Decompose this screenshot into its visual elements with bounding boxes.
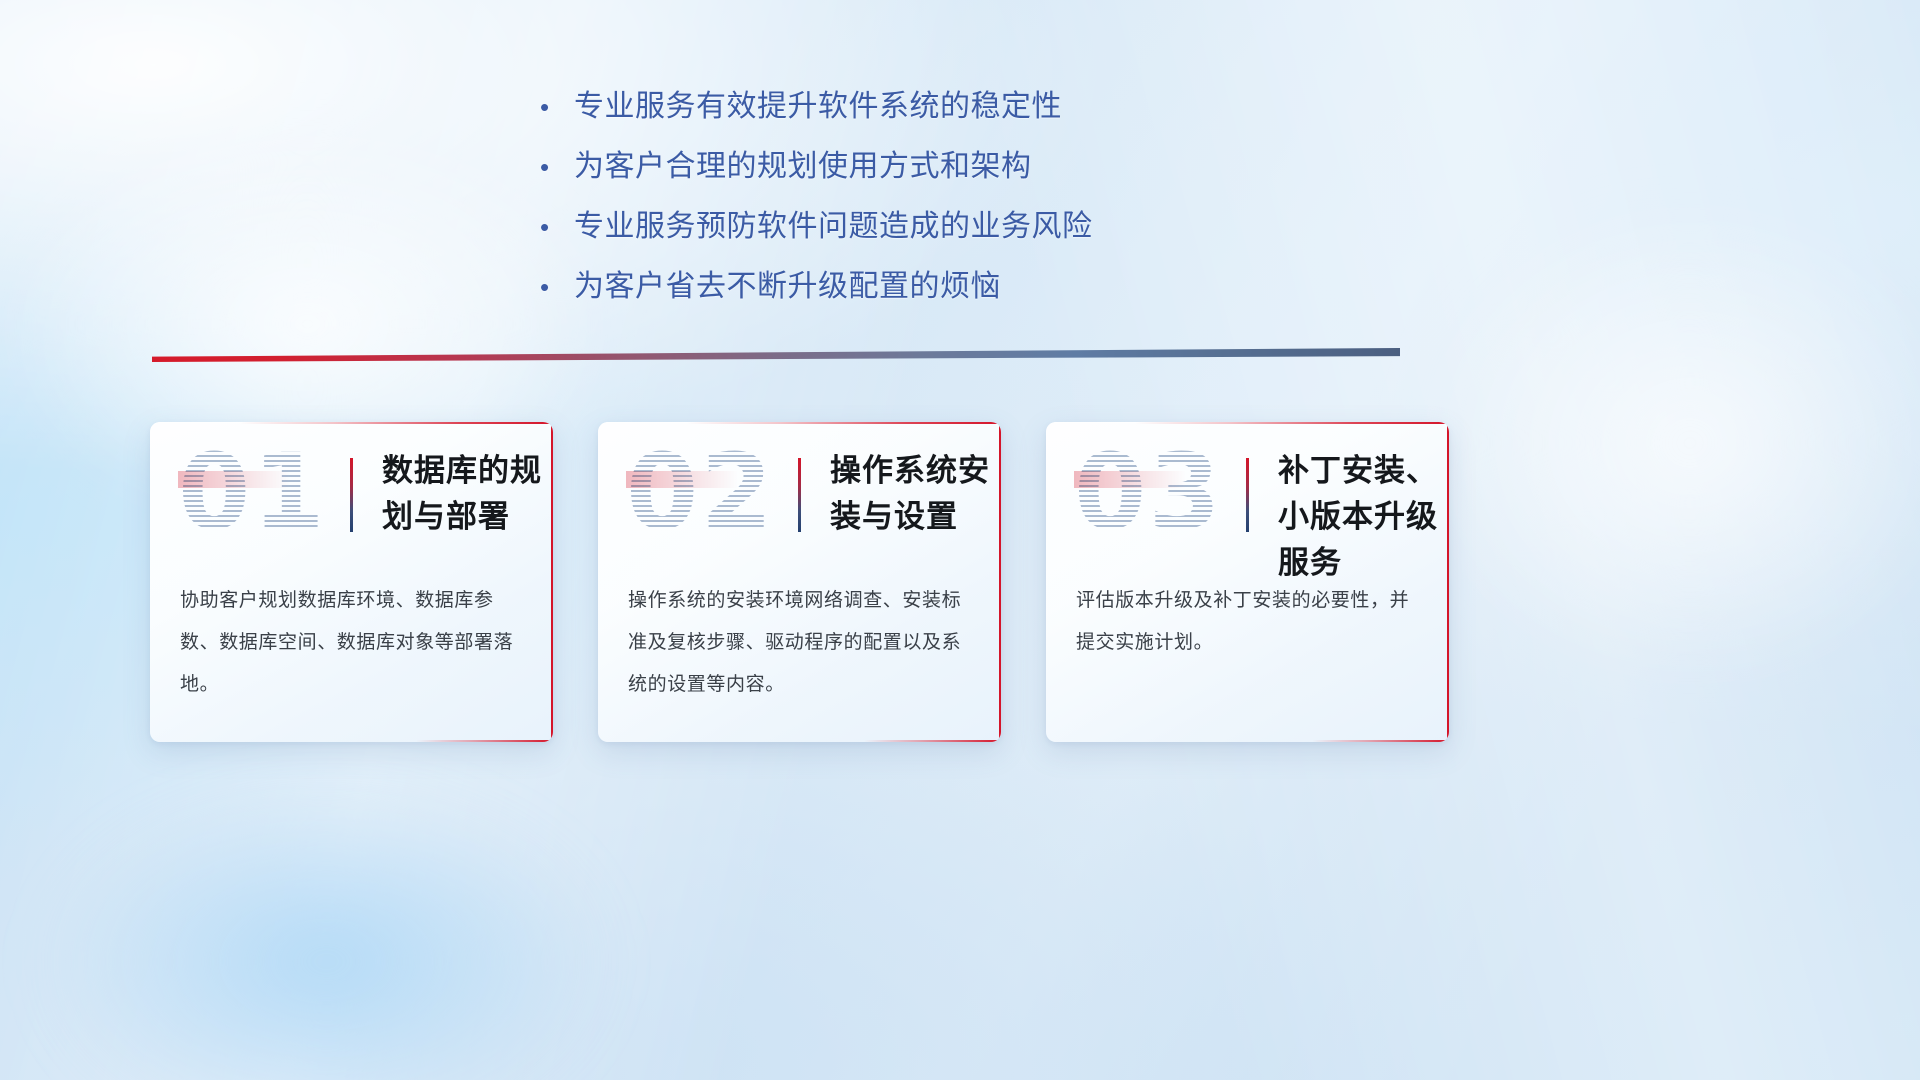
background-glow-bottom-left: [0, 713, 730, 1080]
card-header: 01 数据库的规划与部署: [150, 422, 553, 572]
bullet-text: 为客户合理的规划使用方式和架构: [574, 148, 1032, 186]
service-card-01[interactable]: 01 数据库的规划与部署 协助客户规划数据库环境、数据库参数、数据库空间、数据库…: [150, 422, 553, 742]
divider-blade: [152, 348, 1400, 362]
benefits-bullet-list: • 专业服务有效提升软件系统的稳定性 • 为客户合理的规划使用方式和架构 • 专…: [540, 88, 1240, 328]
card-number-watermark: 01: [178, 440, 327, 544]
card-accent-bottom: [416, 740, 553, 742]
card-accent-bottom: [1312, 740, 1449, 742]
bullet-dot-icon: •: [540, 208, 574, 246]
bullet-text: 专业服务预防软件问题造成的业务风险: [574, 208, 1093, 246]
card-header: 02 操作系统安装与设置: [598, 422, 1001, 572]
list-item: • 为客户合理的规划使用方式和架构: [540, 148, 1240, 186]
list-item: • 专业服务预防软件问题造成的业务风险: [540, 208, 1240, 246]
card-number-watermark: 02: [626, 440, 775, 544]
service-cards-row: 01 数据库的规划与部署 协助客户规划数据库环境、数据库参数、数据库空间、数据库…: [150, 422, 1450, 742]
card-title: 数据库的规划与部署: [382, 448, 542, 540]
section-divider: [152, 348, 1400, 362]
card-title-rule: [350, 458, 353, 532]
bullet-text: 为客户省去不断升级配置的烦恼: [574, 268, 1001, 306]
card-description: 评估版本升级及补丁安装的必要性，并提交实施计划。: [1076, 580, 1423, 664]
bullet-dot-icon: •: [540, 148, 574, 186]
list-item: • 为客户省去不断升级配置的烦恼: [540, 268, 1240, 306]
card-title-rule: [798, 458, 801, 532]
service-card-03[interactable]: 03 补丁安装、小版本升级服务 评估版本升级及补丁安装的必要性，并提交实施计划。: [1046, 422, 1449, 742]
bullet-text: 专业服务有效提升软件系统的稳定性: [574, 88, 1062, 126]
card-description: 操作系统的安装环境网络调查、安装标准及复核步骤、驱动程序的配置以及系统的设置等内…: [628, 580, 975, 706]
card-title: 补丁安装、小版本升级服务: [1278, 448, 1438, 586]
bullet-dot-icon: •: [540, 268, 574, 306]
card-description: 协助客户规划数据库环境、数据库参数、数据库空间、数据库对象等部署落地。: [180, 580, 527, 706]
bullet-dot-icon: •: [540, 88, 574, 126]
list-item: • 专业服务有效提升软件系统的稳定性: [540, 88, 1240, 126]
card-title-rule: [1246, 458, 1249, 532]
card-accent-bottom: [864, 740, 1001, 742]
service-card-02[interactable]: 02 操作系统安装与设置 操作系统的安装环境网络调查、安装标准及复核步骤、驱动程…: [598, 422, 1001, 742]
card-header: 03 补丁安装、小版本升级服务: [1046, 422, 1449, 572]
card-title: 操作系统安装与设置: [830, 448, 990, 540]
card-number-watermark: 03: [1074, 440, 1223, 544]
